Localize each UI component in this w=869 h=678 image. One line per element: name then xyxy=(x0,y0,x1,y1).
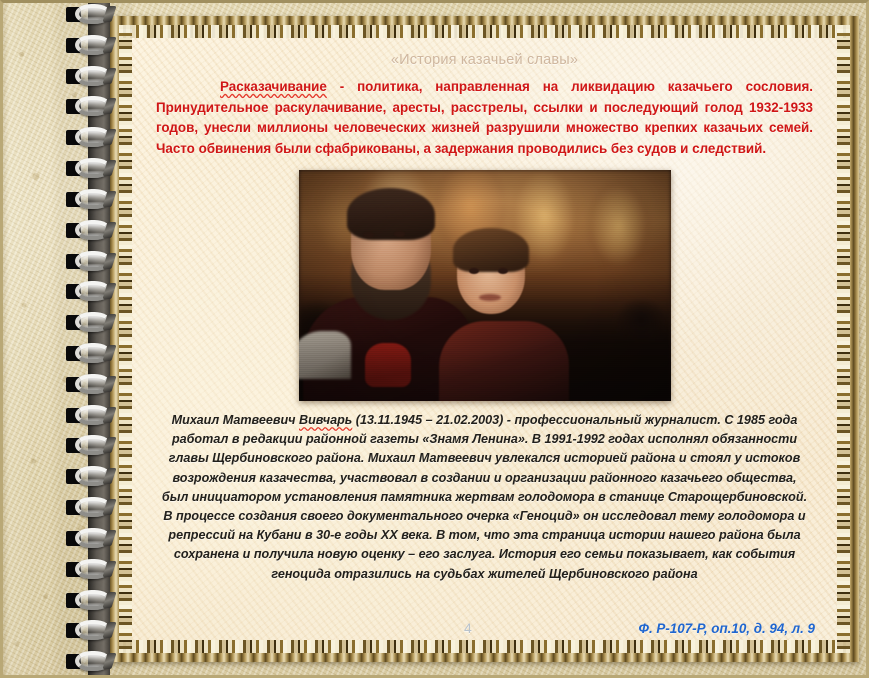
parchment-sheet: «История казачьей славы» Расказачивание … xyxy=(132,38,837,640)
spiral-ring xyxy=(66,96,112,117)
ornamental-border: «История казачьей славы» Расказачивание … xyxy=(119,25,850,653)
spiral-ring xyxy=(66,559,112,580)
slide-card: «История казачьей славы» Расказачивание … xyxy=(110,16,859,662)
page-number: 4 xyxy=(464,620,472,636)
biography-name: Михаил Матвеевич xyxy=(172,413,299,427)
photograph xyxy=(299,170,671,401)
spiral-ring xyxy=(66,343,112,364)
biography-paragraph: Михаил Матвеевич Вивчарь (13.11.1945 – 2… xyxy=(154,411,815,584)
spiral-ring xyxy=(66,220,112,241)
spiral-ring xyxy=(66,405,112,426)
spiral-binding xyxy=(62,0,116,678)
slide-title: «История казачьей славы» xyxy=(154,52,815,68)
spiral-ring xyxy=(66,497,112,518)
spiral-ring xyxy=(66,4,112,25)
photograph-container xyxy=(154,170,815,401)
spiral-ring xyxy=(66,158,112,179)
photo-film-grain xyxy=(299,170,671,401)
biography-surname: Вивчарь xyxy=(299,413,352,427)
lead-paragraph: Расказачивание - политика, направленная … xyxy=(154,77,815,159)
spiral-ring xyxy=(66,620,112,641)
spiral-ring xyxy=(66,374,112,395)
ornamental-border-right xyxy=(837,25,850,653)
slide-footer: 4 Ф. Р-107-Р, оп.10, д. 94, л. 9 xyxy=(132,616,837,638)
spiral-ring xyxy=(66,528,112,549)
spiral-ring xyxy=(66,189,112,210)
notebook-page: «История казачьей славы» Расказачивание … xyxy=(0,0,869,678)
highlight-term: Расказачивание xyxy=(220,79,327,94)
spiral-ring xyxy=(66,651,112,672)
spiral-ring xyxy=(66,66,112,87)
archive-reference: Ф. Р-107-Р, оп.10, д. 94, л. 9 xyxy=(639,621,815,636)
spiral-ring xyxy=(66,590,112,611)
spiral-ring xyxy=(66,312,112,333)
ornamental-border-left xyxy=(119,25,132,653)
biography-body: (13.11.1945 – 21.02.2003) - профессионал… xyxy=(162,413,807,581)
spiral-ring xyxy=(66,466,112,487)
spiral-ring xyxy=(66,281,112,302)
spiral-ring xyxy=(66,435,112,456)
spiral-ring xyxy=(66,35,112,56)
spiral-ring xyxy=(66,251,112,272)
spiral-ring xyxy=(66,127,112,148)
